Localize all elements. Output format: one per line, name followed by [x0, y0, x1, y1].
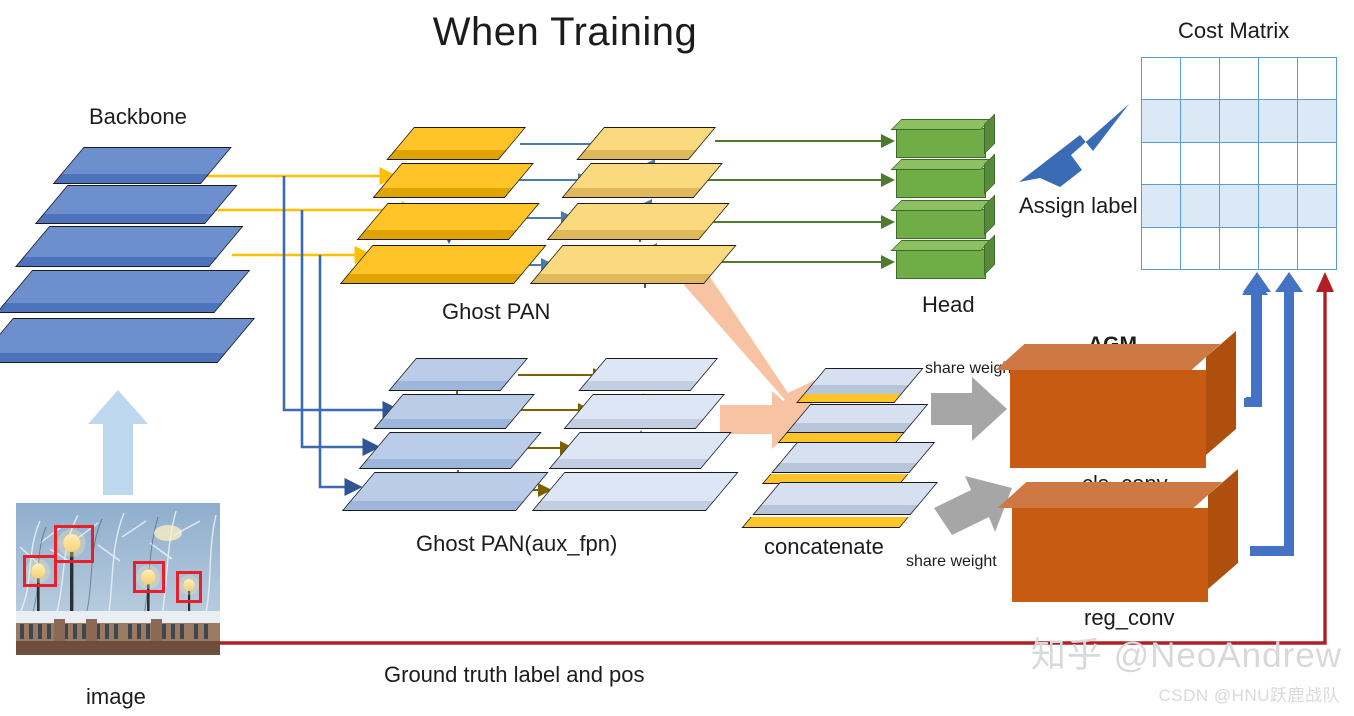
ghostpan-left-level-2 — [380, 163, 532, 189]
concat-level-2 — [794, 404, 927, 424]
watermark-primary: 知乎 @NeoAndrew — [1031, 627, 1342, 678]
cost-matrix-cell — [1181, 142, 1220, 184]
concat-level-1 — [810, 368, 921, 386]
watermark-secondary: CSDN @HNU跃鹿战队 — [1159, 681, 1340, 706]
ghostpan-right-level-4 — [537, 245, 734, 275]
assign-label-text: Assign label — [1019, 193, 1138, 219]
ghost-pan-label: Ghost PAN — [442, 299, 550, 325]
cost-matrix-cell — [1259, 142, 1298, 184]
head-bar-4 — [896, 249, 984, 277]
backbone-level-4 — [4, 270, 249, 304]
cost-matrix-cell — [1181, 185, 1220, 227]
cost-matrix-row — [1142, 185, 1337, 227]
cost-matrix-cell — [1220, 142, 1259, 184]
cost-matrix-cell — [1298, 142, 1337, 184]
cost-matrix-cell — [1298, 58, 1337, 100]
backbone-level-3 — [23, 226, 242, 258]
auxfpn-left-level-3 — [366, 432, 539, 460]
bbox-3 — [133, 561, 165, 593]
head-label: Head — [922, 292, 975, 318]
cost-matrix-cell — [1181, 100, 1220, 142]
page-title: When Training — [0, 10, 1130, 55]
bbox-4 — [176, 571, 202, 603]
cost-matrix-cell — [1298, 100, 1337, 142]
image-label: image — [86, 684, 146, 710]
concat-level-4 — [760, 482, 936, 506]
cost-matrix-cell — [1181, 58, 1220, 100]
cost-matrix-cell — [1259, 100, 1298, 142]
ghostpan-left-level-1 — [394, 127, 524, 151]
cost-matrix-cell — [1298, 185, 1337, 227]
cost-matrix-cell — [1220, 58, 1259, 100]
cost-matrix-cell — [1259, 185, 1298, 227]
auxfpn-right-level-3 — [556, 432, 729, 460]
cost-matrix-cell — [1220, 100, 1259, 142]
head-bar-3 — [896, 209, 984, 237]
cost-matrix-cell — [1259, 227, 1298, 269]
concat-level-3 — [779, 442, 933, 464]
ghostpan-right-level-1 — [584, 127, 714, 151]
reg-conv-box — [1012, 508, 1208, 602]
ghostpan-right-level-3 — [554, 203, 727, 231]
cost-matrix-cell — [1142, 142, 1181, 184]
cost-matrix-cell — [1220, 227, 1259, 269]
auxfpn-right-level-4 — [539, 472, 736, 502]
cost-matrix-label: Cost Matrix — [1178, 18, 1289, 44]
concatenate-label: concatenate — [764, 534, 884, 560]
cost-matrix-cell — [1181, 227, 1220, 269]
input-image — [16, 503, 220, 655]
cost-matrix-row — [1142, 227, 1337, 269]
cost-matrix-cell — [1142, 100, 1181, 142]
cost-matrix-row — [1142, 58, 1337, 100]
ground-truth-label: Ground truth label and pos — [384, 662, 645, 688]
cost-matrix-cell — [1142, 58, 1181, 100]
backbone-level-5 — [0, 318, 253, 354]
auxfpn-left-level-2 — [381, 394, 533, 420]
cost-matrix-cell — [1259, 58, 1298, 100]
cost-matrix-row — [1142, 142, 1337, 184]
auxfpn-right-level-2 — [571, 394, 723, 420]
ghost-pan-aux-label: Ghost PAN(aux_fpn) — [416, 531, 617, 557]
bbox-1 — [54, 525, 94, 563]
cost-matrix-row — [1142, 100, 1337, 142]
cost-matrix-cell — [1220, 185, 1259, 227]
auxfpn-right-level-1 — [586, 358, 716, 382]
cost-matrix-cell — [1142, 227, 1181, 269]
ghostpan-left-level-4 — [347, 245, 544, 275]
bbox-2 — [23, 555, 57, 587]
head-bar-2 — [896, 168, 984, 196]
cost-matrix-cell — [1142, 185, 1181, 227]
share-weight-bottom-label: share weight — [906, 553, 997, 571]
cost-matrix-grid — [1141, 57, 1337, 270]
ghostpan-left-level-3 — [364, 203, 537, 231]
ghostpan-right-level-2 — [569, 163, 721, 189]
backbone-level-2 — [42, 185, 235, 215]
backbone-label: Backbone — [89, 104, 187, 130]
backbone-level-1 — [60, 147, 229, 175]
auxfpn-left-level-4 — [349, 472, 546, 502]
head-bar-1 — [896, 128, 984, 156]
cost-matrix-cell — [1298, 227, 1337, 269]
auxfpn-left-level-1 — [396, 358, 526, 382]
cls-conv-box — [1010, 370, 1206, 468]
